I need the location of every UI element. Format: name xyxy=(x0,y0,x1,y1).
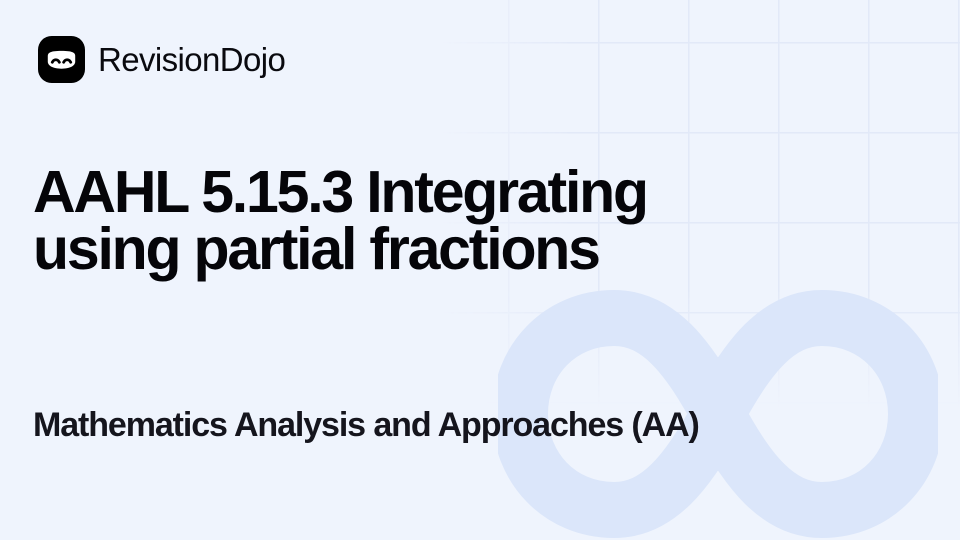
ninja-mask-icon xyxy=(38,36,85,83)
slide-canvas: RevisionDojo AAHL 5.15.3 Integrating usi… xyxy=(0,0,960,540)
page-title: AAHL 5.15.3 Integrating using partial fr… xyxy=(33,164,673,278)
brand-logo-row: RevisionDojo xyxy=(38,36,285,83)
course-subtitle: Mathematics Analysis and Approaches (AA) xyxy=(33,406,923,444)
brand-name-text: RevisionDojo xyxy=(98,43,285,76)
